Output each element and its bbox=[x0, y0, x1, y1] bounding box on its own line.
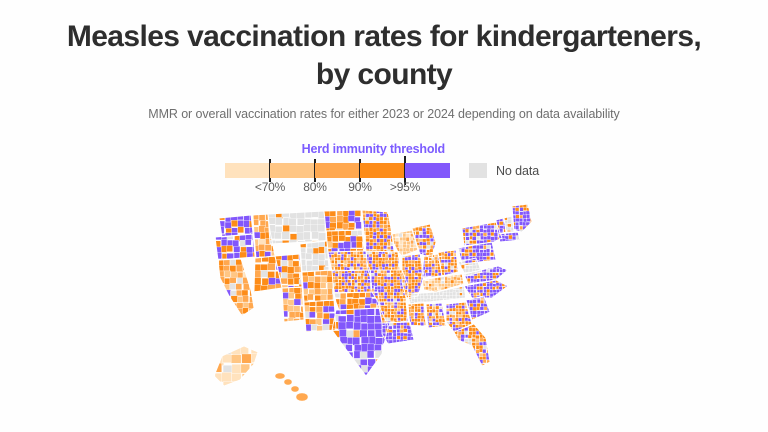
county-cell bbox=[209, 265, 215, 272]
county-cell bbox=[533, 218, 537, 221]
county-cell bbox=[335, 276, 338, 279]
county-cell bbox=[492, 321, 496, 324]
county-cell bbox=[501, 213, 505, 216]
county-cell bbox=[483, 293, 486, 296]
county-cell bbox=[434, 228, 437, 232]
county-cell bbox=[224, 303, 231, 310]
county-cell bbox=[427, 299, 430, 302]
county-cell bbox=[451, 346, 455, 350]
county-cell bbox=[506, 293, 510, 296]
county-cell bbox=[425, 257, 428, 260]
county-cell bbox=[365, 231, 369, 235]
county-cell bbox=[231, 355, 241, 363]
county-cell bbox=[390, 343, 397, 350]
county-cell bbox=[211, 271, 217, 277]
county-cell bbox=[394, 214, 397, 218]
state-counties-alaska bbox=[204, 336, 269, 402]
county-cell bbox=[459, 222, 463, 226]
county-cell bbox=[357, 257, 360, 260]
county-cell bbox=[484, 225, 487, 228]
county-cell bbox=[476, 236, 479, 239]
county-cell bbox=[369, 246, 373, 250]
county-cell bbox=[221, 239, 227, 246]
county-cell bbox=[451, 253, 454, 256]
county-cell bbox=[490, 339, 493, 342]
county-cell bbox=[344, 261, 347, 264]
county-cell bbox=[469, 364, 473, 368]
county-cell bbox=[497, 249, 500, 252]
county-cell bbox=[492, 299, 495, 302]
county-cell bbox=[495, 215, 499, 219]
county-cell bbox=[461, 249, 465, 253]
county-cell bbox=[394, 308, 397, 311]
county-cell bbox=[375, 338, 382, 345]
county-cell bbox=[383, 345, 390, 352]
county-cell bbox=[381, 302, 384, 305]
county-cell bbox=[419, 245, 423, 249]
county-cell bbox=[508, 299, 511, 302]
county-cell bbox=[242, 296, 248, 302]
county-cell bbox=[237, 320, 243, 327]
county-cell bbox=[480, 286, 483, 289]
county-cell bbox=[371, 270, 374, 273]
county-cell bbox=[381, 286, 384, 289]
county-cell bbox=[242, 382, 252, 392]
county-cell bbox=[304, 204, 311, 212]
county-cell bbox=[454, 356, 458, 360]
county-cell bbox=[380, 213, 384, 217]
county-cell bbox=[490, 283, 493, 286]
county-cell bbox=[347, 366, 354, 373]
county-cell bbox=[331, 366, 339, 373]
county-cell bbox=[509, 266, 512, 269]
county-cell bbox=[505, 275, 508, 278]
county-cell bbox=[297, 218, 305, 225]
county-cell bbox=[388, 206, 392, 210]
county-cell bbox=[321, 295, 327, 301]
county-cell bbox=[439, 309, 442, 312]
county-cell bbox=[432, 329, 435, 332]
county-cell bbox=[369, 221, 372, 225]
county-cell bbox=[509, 277, 512, 280]
county-cell bbox=[255, 309, 262, 316]
county-cell bbox=[340, 365, 348, 373]
county-cell bbox=[255, 291, 263, 298]
county-cell bbox=[487, 320, 491, 323]
county-cell bbox=[376, 246, 380, 250]
county-cell bbox=[375, 276, 378, 280]
county-cell bbox=[458, 269, 462, 273]
county-cell bbox=[371, 279, 374, 282]
county-cell bbox=[418, 279, 421, 282]
county-cell bbox=[289, 240, 297, 248]
county-cell bbox=[534, 211, 538, 214]
county-cell bbox=[242, 354, 252, 363]
county-cell bbox=[314, 282, 320, 288]
county-cell bbox=[382, 380, 389, 387]
county-cell bbox=[477, 300, 480, 303]
county-cell bbox=[382, 254, 385, 257]
county-cell bbox=[363, 264, 366, 267]
county-cell bbox=[256, 208, 262, 215]
county-cell bbox=[372, 267, 375, 270]
county-cell bbox=[345, 286, 348, 289]
county-cell bbox=[473, 303, 477, 307]
county-cell bbox=[437, 238, 440, 242]
county-cell bbox=[483, 359, 486, 362]
county-cell bbox=[408, 289, 411, 292]
county-cell bbox=[407, 241, 411, 245]
county-cell bbox=[458, 364, 462, 367]
county-cell bbox=[259, 207, 266, 213]
county-cell bbox=[403, 226, 407, 230]
county-cell bbox=[322, 324, 329, 330]
county-cell bbox=[483, 367, 486, 370]
county-cell bbox=[407, 347, 411, 351]
county-cell bbox=[397, 298, 400, 301]
county-cell bbox=[419, 221, 423, 224]
county-cell bbox=[339, 374, 346, 382]
county-cell bbox=[232, 338, 241, 347]
county-cell bbox=[454, 353, 458, 357]
county-cell bbox=[294, 306, 300, 313]
county-cell bbox=[496, 296, 499, 299]
county-cell bbox=[369, 374, 376, 382]
county-cell bbox=[246, 263, 252, 269]
county-cell bbox=[494, 245, 497, 249]
county-cell bbox=[395, 238, 399, 241]
county-cell bbox=[330, 216, 336, 223]
county-cell bbox=[242, 336, 251, 345]
county-cell bbox=[523, 232, 526, 236]
county-cell bbox=[384, 273, 387, 276]
county-cell bbox=[347, 315, 354, 323]
county-cell bbox=[450, 350, 454, 353]
county-cell bbox=[465, 269, 469, 273]
county-cell bbox=[205, 374, 214, 383]
county-cell bbox=[405, 261, 408, 264]
county-cell bbox=[421, 296, 424, 299]
county-cell bbox=[491, 314, 494, 318]
county-cell bbox=[230, 320, 237, 326]
county-cell bbox=[534, 215, 538, 219]
county-cell bbox=[294, 319, 300, 326]
county-cell bbox=[487, 218, 491, 222]
county-cell bbox=[506, 280, 509, 283]
county-cell bbox=[494, 236, 498, 240]
county-cell bbox=[218, 290, 224, 296]
county-cell bbox=[411, 276, 414, 280]
county-cell bbox=[236, 284, 242, 290]
county-cell bbox=[319, 247, 325, 254]
county-cell bbox=[486, 327, 490, 331]
county-cell bbox=[211, 308, 217, 315]
county-cell bbox=[250, 374, 259, 384]
county-cell bbox=[512, 236, 516, 240]
county-cell bbox=[530, 233, 534, 237]
county-cell bbox=[502, 299, 505, 303]
county-cell bbox=[484, 219, 487, 223]
county-cell bbox=[353, 254, 356, 257]
county-cell bbox=[436, 322, 439, 325]
county-cell bbox=[458, 229, 462, 232]
county-cell bbox=[417, 319, 420, 322]
county-cell bbox=[455, 318, 458, 321]
county-cell bbox=[369, 232, 373, 235]
county-cell bbox=[397, 282, 400, 285]
county-cell bbox=[503, 277, 506, 280]
county-cell bbox=[397, 329, 400, 333]
county-cell bbox=[454, 266, 457, 269]
county-cell bbox=[509, 279, 513, 282]
county-cell bbox=[438, 328, 441, 331]
county-cell bbox=[376, 365, 383, 372]
county-cell bbox=[392, 264, 395, 267]
county-cell bbox=[400, 292, 403, 295]
county-cell bbox=[362, 204, 368, 210]
county-cell bbox=[447, 246, 450, 249]
county-cell bbox=[483, 283, 486, 286]
county-cell bbox=[238, 220, 244, 226]
county-cell bbox=[411, 273, 414, 276]
county-cell bbox=[473, 307, 477, 311]
county-cell bbox=[473, 286, 476, 290]
county-cell bbox=[208, 247, 214, 254]
county-cell bbox=[394, 217, 398, 220]
county-cell bbox=[476, 253, 480, 257]
county-cell bbox=[374, 344, 381, 351]
county-cell bbox=[487, 236, 491, 240]
county-cell bbox=[255, 302, 261, 309]
county-cell bbox=[389, 336, 392, 339]
county-cell bbox=[425, 281, 428, 284]
county-cell bbox=[350, 267, 353, 270]
map-svg bbox=[196, 204, 592, 432]
county-cell bbox=[390, 318, 393, 321]
county-cell bbox=[331, 351, 338, 358]
county-cell bbox=[534, 233, 538, 237]
county-cell bbox=[464, 357, 467, 361]
county-cell bbox=[281, 260, 287, 266]
county-cell bbox=[415, 289, 419, 292]
county-cell bbox=[454, 277, 457, 280]
county-cell bbox=[447, 256, 450, 259]
county-cell bbox=[274, 248, 280, 254]
county-cell bbox=[378, 254, 381, 257]
county-cell bbox=[253, 208, 260, 215]
county-cell bbox=[242, 290, 248, 296]
county-cell bbox=[276, 324, 282, 330]
county-cell bbox=[436, 292, 439, 295]
county-cell bbox=[387, 295, 390, 298]
county-cell bbox=[496, 283, 499, 286]
county-cell bbox=[356, 236, 363, 242]
county-cell bbox=[351, 257, 354, 261]
county-cell bbox=[384, 235, 388, 239]
county-cell bbox=[490, 356, 494, 360]
county-cell bbox=[269, 291, 276, 297]
county-cell bbox=[376, 224, 379, 228]
county-cell bbox=[372, 261, 375, 264]
county-cell bbox=[262, 278, 270, 285]
county-cell bbox=[393, 344, 397, 348]
county-cell bbox=[353, 330, 360, 337]
county-cell bbox=[481, 218, 484, 222]
county-cell bbox=[480, 262, 483, 265]
county-cell bbox=[509, 285, 512, 289]
county-cell bbox=[384, 292, 387, 295]
county-cell bbox=[505, 243, 509, 247]
county-cell bbox=[465, 360, 469, 364]
county-cell bbox=[327, 276, 333, 282]
county-cell bbox=[499, 299, 502, 302]
county-cell bbox=[368, 323, 376, 330]
county-cell bbox=[390, 217, 394, 221]
county-cell bbox=[288, 324, 294, 330]
county-cell bbox=[383, 221, 387, 225]
county-cell bbox=[281, 249, 288, 255]
hawaii-island-2 bbox=[291, 386, 299, 392]
county-cell bbox=[376, 207, 380, 211]
county-cell bbox=[530, 204, 534, 207]
county-cell bbox=[462, 223, 465, 227]
county-cell bbox=[483, 253, 487, 257]
county-cell bbox=[391, 210, 395, 213]
county-cell bbox=[415, 267, 419, 270]
county-cell bbox=[213, 216, 219, 222]
county-cell bbox=[477, 218, 481, 222]
county-cell bbox=[259, 244, 265, 250]
county-cell bbox=[322, 331, 328, 337]
county-cell bbox=[449, 334, 452, 337]
county-cell bbox=[466, 221, 470, 224]
county-cell bbox=[315, 276, 321, 282]
county-cell bbox=[342, 286, 345, 289]
county-cell bbox=[524, 243, 528, 247]
county-cell bbox=[509, 269, 512, 272]
county-cell bbox=[346, 373, 354, 380]
no-data-swatch bbox=[469, 163, 487, 178]
county-cell bbox=[404, 343, 408, 347]
county-cell bbox=[368, 359, 376, 367]
county-cell bbox=[454, 242, 458, 246]
county-cell bbox=[450, 353, 454, 357]
county-cell bbox=[443, 328, 446, 331]
county-cell bbox=[462, 318, 465, 321]
county-cell bbox=[449, 308, 452, 311]
county-cell bbox=[490, 324, 494, 328]
county-cell bbox=[435, 283, 439, 286]
county-cell bbox=[353, 337, 360, 345]
county-cell bbox=[509, 263, 512, 266]
county-cell bbox=[361, 380, 368, 387]
county-cell bbox=[367, 350, 374, 358]
county-cell bbox=[491, 219, 495, 223]
county-cell bbox=[231, 220, 237, 226]
county-cell bbox=[461, 363, 464, 367]
county-cell bbox=[469, 219, 472, 223]
county-cell bbox=[473, 218, 477, 222]
county-cell bbox=[530, 229, 534, 232]
county-cell bbox=[391, 213, 394, 217]
county-cell bbox=[275, 217, 282, 225]
county-cell bbox=[429, 328, 432, 331]
county-cell bbox=[346, 322, 353, 329]
county-cell bbox=[334, 254, 337, 257]
county-cell bbox=[404, 312, 407, 315]
county-cell bbox=[320, 282, 326, 288]
county-cell bbox=[483, 262, 487, 266]
county-cell bbox=[526, 214, 530, 218]
county-cell bbox=[431, 287, 434, 290]
county-cell bbox=[348, 273, 351, 276]
county-cell bbox=[247, 269, 255, 276]
county-cell bbox=[383, 373, 390, 381]
county-cell bbox=[345, 283, 348, 286]
county-cell bbox=[303, 276, 309, 282]
county-cell bbox=[225, 222, 232, 229]
county-cell bbox=[332, 236, 338, 242]
county-cell bbox=[294, 299, 301, 305]
county-cell bbox=[462, 321, 465, 324]
hawaii-island-3 bbox=[296, 393, 308, 401]
county-cell bbox=[502, 247, 506, 251]
county-cell bbox=[389, 348, 393, 351]
county-cell bbox=[403, 244, 407, 248]
county-cell bbox=[356, 242, 362, 248]
county-cell bbox=[428, 273, 431, 276]
county-cell bbox=[318, 204, 324, 210]
county-cell bbox=[441, 284, 444, 287]
legend-tick-label-2: 90% bbox=[348, 180, 371, 194]
county-cell bbox=[411, 313, 414, 316]
county-cell bbox=[501, 243, 504, 246]
county-cell bbox=[377, 283, 380, 286]
county-cell bbox=[505, 248, 508, 252]
county-cell bbox=[502, 263, 505, 267]
county-cell bbox=[509, 287, 512, 290]
county-cell bbox=[281, 323, 288, 329]
county-cell bbox=[344, 289, 347, 293]
county-cell bbox=[490, 320, 494, 323]
county-cell bbox=[312, 259, 319, 265]
county-cell bbox=[500, 263, 504, 266]
county-cell bbox=[360, 276, 363, 279]
county-cell bbox=[490, 364, 494, 368]
county-cell bbox=[496, 300, 499, 303]
county-cell bbox=[446, 334, 449, 337]
county-cell bbox=[262, 293, 270, 300]
county-cell bbox=[388, 254, 391, 257]
county-cell bbox=[217, 303, 223, 309]
county-cell bbox=[419, 235, 422, 238]
county-cell bbox=[423, 235, 426, 238]
county-cell bbox=[261, 204, 269, 210]
county-cell bbox=[209, 252, 216, 259]
county-cell bbox=[261, 270, 268, 277]
county-cell bbox=[247, 208, 253, 215]
county-cell bbox=[483, 345, 487, 349]
county-cell bbox=[211, 278, 217, 284]
county-cell bbox=[470, 286, 474, 289]
county-cell bbox=[315, 289, 322, 295]
county-cell bbox=[218, 296, 224, 302]
county-cell bbox=[393, 325, 396, 329]
county-cell bbox=[384, 225, 388, 229]
county-cell bbox=[246, 247, 253, 253]
county-cell bbox=[439, 319, 442, 322]
county-cell bbox=[450, 284, 453, 287]
